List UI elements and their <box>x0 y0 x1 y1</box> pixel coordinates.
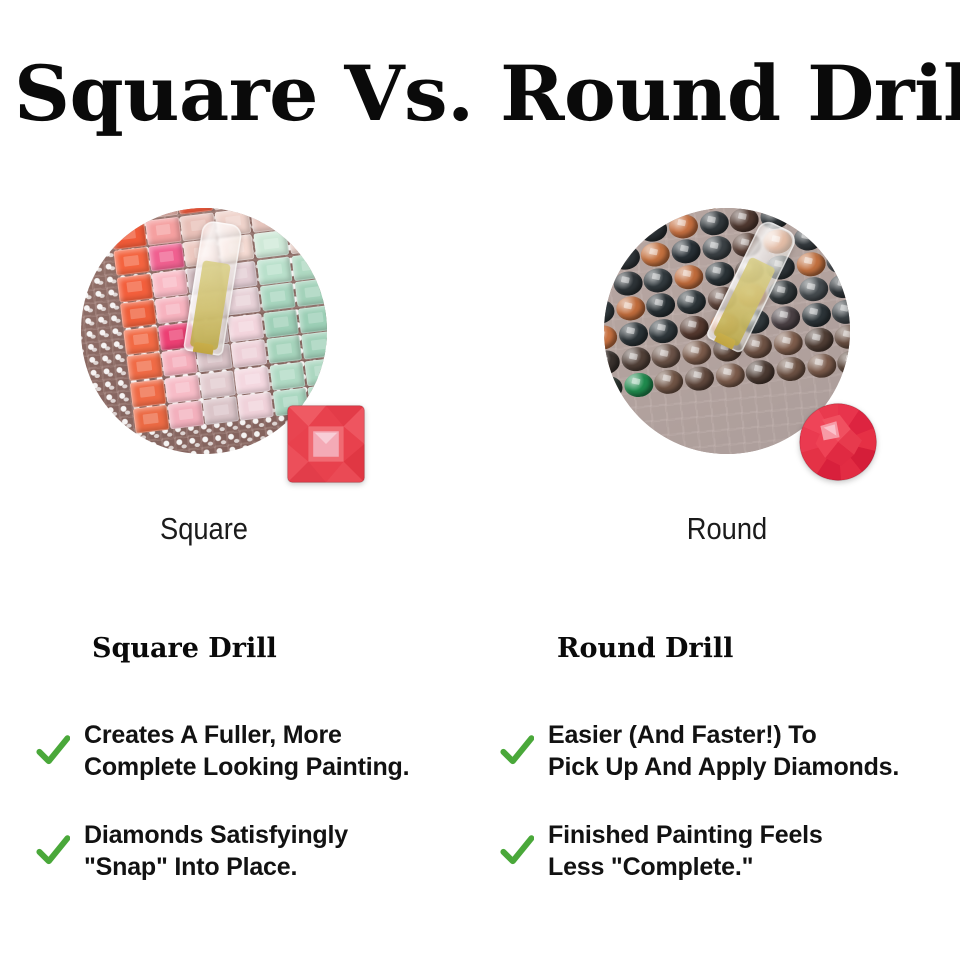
drill-bead <box>795 251 827 278</box>
drill-bead <box>826 248 850 275</box>
drill-bead <box>130 379 166 408</box>
drill-bead <box>149 243 185 272</box>
list-item: Finished Painting Feels Less "Complete." <box>500 818 950 884</box>
drill-bead <box>203 397 239 426</box>
check-icon <box>36 734 70 768</box>
list-item: Creates A Fuller, More Complete Looking … <box>36 718 486 784</box>
drill-bead <box>668 213 700 240</box>
drill-bead <box>604 375 624 402</box>
drill-bead <box>635 208 667 218</box>
drill-bead <box>651 343 683 370</box>
drill-bead <box>793 225 825 252</box>
drill-bead <box>679 314 711 341</box>
drill-bead <box>238 392 274 421</box>
drill-bead <box>257 257 293 286</box>
drill-bead <box>638 216 670 243</box>
drill-bead <box>604 273 613 300</box>
drill-bead <box>801 302 833 329</box>
list-item-text: Easier (And Faster!) To Pick Up And Appl… <box>548 719 899 783</box>
list-item-line2: "Snap" Into Place. <box>84 851 348 883</box>
list-item-text: Diamonds Satisfyingly "Snap" Into Place. <box>84 819 348 883</box>
drill-bead <box>790 208 822 227</box>
square-drill-photo <box>81 208 327 454</box>
drill-bead <box>612 270 644 297</box>
drill-bead <box>729 208 760 233</box>
drill-bead <box>231 340 267 369</box>
drill-bead <box>110 221 146 250</box>
drill-bead <box>168 401 204 430</box>
page-title: Square Vs. Round Drill <box>14 52 960 136</box>
drill-bead <box>831 298 850 325</box>
drill-bead <box>260 283 296 312</box>
round-gem-icon <box>798 402 878 482</box>
list-item-line2: Complete Looking Painting. <box>84 751 409 783</box>
drill-bead <box>681 340 713 367</box>
drill-bead <box>604 223 608 250</box>
drill-bead <box>301 331 327 360</box>
drill-bead <box>162 348 198 377</box>
check-icon <box>500 834 534 868</box>
drill-bead <box>643 267 675 294</box>
drill-bead <box>604 208 636 221</box>
drill-bead <box>253 230 289 259</box>
drill-bead <box>250 208 286 233</box>
drill-bead <box>806 352 838 379</box>
infographic-page: Square Vs. Round Drill <box>0 0 960 960</box>
drill-bead <box>323 222 327 251</box>
drill-bead <box>604 324 619 351</box>
drill-bead <box>676 289 708 316</box>
drill-bead <box>117 274 153 303</box>
drill-bead <box>235 366 271 395</box>
drill-bead <box>798 276 830 303</box>
list-item: Easier (And Faster!) To Pick Up And Appl… <box>500 718 950 784</box>
drill-bead <box>133 405 169 434</box>
square-gem-icon <box>286 404 366 484</box>
drill-bead <box>295 279 327 308</box>
drill-bead <box>640 241 672 268</box>
drill-bead <box>269 362 305 391</box>
drill-bead <box>266 335 302 364</box>
drill-bead <box>654 368 686 395</box>
list-item-text: Finished Painting Feels Less "Complete." <box>548 819 823 883</box>
drill-bead <box>828 273 850 300</box>
drill-bead <box>155 296 191 325</box>
list-item-line1: Creates A Fuller, More <box>84 719 409 751</box>
round-drill-heading: Round Drill <box>557 633 733 665</box>
drill-bead <box>620 346 652 373</box>
pen-wax <box>190 260 231 350</box>
drill-bead <box>665 208 697 214</box>
check-icon <box>36 834 70 868</box>
drill-bead <box>114 247 150 276</box>
drill-bead <box>646 292 678 319</box>
drill-bead <box>120 300 156 329</box>
drill-bead <box>803 327 835 354</box>
drill-bead <box>673 264 705 291</box>
drill-bead <box>304 357 327 386</box>
drill-bead <box>607 219 639 246</box>
drill-bead <box>623 371 655 398</box>
list-item-line1: Diamonds Satisfyingly <box>84 819 348 851</box>
drill-bead <box>165 375 201 404</box>
drill-bead <box>263 309 299 338</box>
drill-bead <box>834 324 850 351</box>
drill-bead <box>320 208 327 224</box>
square-drill-heading: Square Drill <box>92 633 277 665</box>
drill-bead <box>820 208 850 224</box>
square-drill-benefits: Creates A Fuller, More Complete Looking … <box>36 718 486 918</box>
drill-bead <box>604 299 616 326</box>
drill-bead <box>823 222 850 249</box>
round-drill-benefits: Easier (And Faster!) To Pick Up And Appl… <box>500 718 950 918</box>
drill-bead <box>228 313 264 342</box>
list-item-line1: Easier (And Faster!) To <box>548 719 899 751</box>
drill-bead <box>684 365 716 392</box>
drill-bead <box>145 217 181 246</box>
drill-bead <box>288 226 324 255</box>
drill-bead <box>773 330 805 357</box>
drill-bead <box>152 269 188 298</box>
drill-bead <box>604 349 621 376</box>
drill-bead <box>127 353 163 382</box>
list-item: Diamonds Satisfyingly "Snap" Into Place. <box>36 818 486 884</box>
list-item-line1: Finished Painting Feels <box>548 819 823 851</box>
round-drill-photo <box>604 208 850 454</box>
round-photo-caption: Round <box>619 510 835 548</box>
drill-bead <box>618 321 650 348</box>
square-photo-caption: Square <box>96 510 312 548</box>
drill-bead <box>200 370 236 399</box>
list-item-text: Creates A Fuller, More Complete Looking … <box>84 719 409 783</box>
drill-bead <box>775 355 807 382</box>
drill-bead <box>770 305 802 332</box>
drill-bead <box>604 248 611 275</box>
drill-bead <box>648 318 680 345</box>
drill-bead <box>745 359 776 386</box>
drill-bead <box>701 235 733 262</box>
drill-bead <box>291 252 327 281</box>
list-item-line2: Less "Complete." <box>548 851 823 883</box>
drill-bead <box>836 349 850 376</box>
check-icon <box>500 734 534 768</box>
drill-bead <box>610 245 642 272</box>
drill-bead <box>698 210 730 237</box>
drill-bead <box>123 326 159 355</box>
drill-bead <box>671 238 703 265</box>
list-item-line2: Pick Up And Apply Diamonds. <box>548 751 899 783</box>
drill-bead <box>615 295 647 322</box>
drill-bead <box>298 305 327 334</box>
drill-bead <box>714 362 746 389</box>
